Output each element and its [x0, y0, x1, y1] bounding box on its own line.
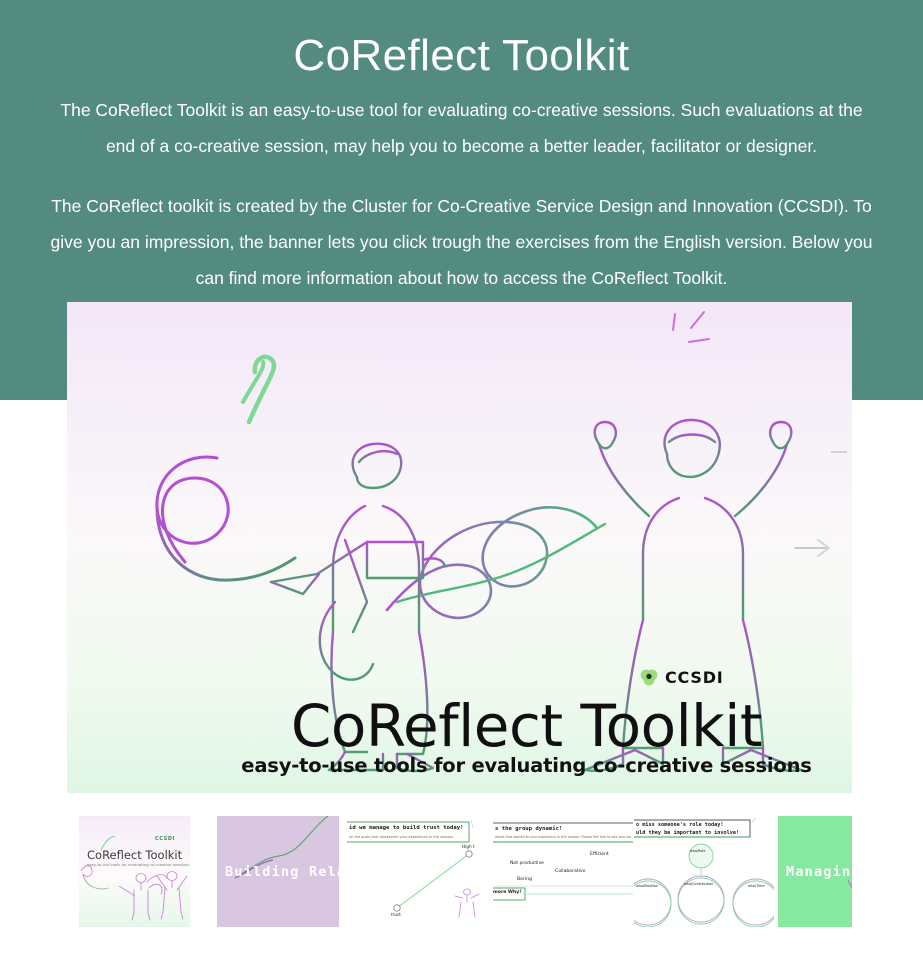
thumbnail-carousel[interactable]: CoReflect Toolkit easy-to-use tools for …: [79, 816, 852, 927]
thumbnail-scale-subheading: on the scale that represents your experi…: [349, 835, 453, 839]
thumbnail-roles-heading-2: uld they be important to involve!: [636, 830, 739, 836]
thumbnail-scale-graphics: [347, 816, 491, 927]
thumbnail-dynamic-subheading: words that applied to your experience in…: [495, 835, 631, 839]
thumbnail-gap: [190, 816, 217, 927]
thumbnail-roles-heading-1: o miss someone's role today!: [636, 822, 723, 828]
thumbnail-dynamic-heading: s the group dynamic!: [495, 826, 562, 832]
thumbnail-roles-bubble-3: who/Relation: [636, 884, 658, 888]
thumbnail-dynamic-word-4: Boring: [517, 877, 532, 882]
thumbnail-roles-bubble-2: who/Contribution: [684, 882, 713, 886]
thumbnail-managing-time[interactable]: Managing Ti: [778, 816, 852, 927]
thumbnail-group-dynamic[interactable]: s the group dynamic! words that applied …: [493, 816, 633, 927]
thumbnail-cover-title: CoReflect Toolkit: [87, 848, 182, 862]
ccsdi-venn-icon: [639, 667, 659, 687]
ccsdi-wordmark: CCSDI: [665, 668, 724, 687]
banner-title: CoReflect Toolkit: [134, 692, 852, 760]
thumbnail-scale-high-label: High t: [462, 844, 475, 849]
thumbnail-time-label: Managing Ti: [778, 816, 852, 927]
thumbnail-building-relations[interactable]: Building Relations: [217, 816, 339, 927]
thumbnail-dynamic-footer: more Why!: [493, 890, 521, 895]
thumbnail-gap: [339, 816, 347, 927]
banner-slideshow[interactable]: CCSDI CoReflect Toolkit easy-to-use tool…: [67, 302, 852, 793]
thumbnail-dynamic-word-3: Collaborative: [555, 869, 585, 874]
thumbnail-roles-bubble-4: who/Time: [748, 884, 764, 888]
next-arrow-icon[interactable]: [793, 536, 833, 560]
thumbnail-cover-illustration: [79, 816, 190, 927]
thumbnail-cover-logo: CCSDI: [155, 836, 175, 842]
thumbnail-roles[interactable]: o miss someone's role today! uld they be…: [634, 816, 774, 927]
intro-paragraph-1: The CoReflect Toolkit is an easy-to-use …: [50, 92, 873, 164]
thumbnail-cover-subtitle: easy-to-use tools for evaluating co-crea…: [87, 862, 189, 867]
thumbnail-relations-label: Building Relations: [217, 816, 339, 927]
thumbnail-dynamic-word-2: Not productive: [510, 861, 544, 866]
page-title: CoReflect Toolkit: [0, 28, 923, 84]
thumbnail-trust-scale[interactable]: id we manage to build trust today! on th…: [347, 816, 491, 927]
banner-ccsdi-logo: CCSDI: [639, 667, 724, 687]
intro-paragraph-2: The CoReflect toolkit is created by the …: [50, 188, 873, 296]
thumbnail-roles-bubble-1: who/Role: [690, 849, 705, 853]
thumbnail-dynamic-word-1: Efficient: [590, 852, 609, 857]
banner-subtitle: easy-to-use tools for evaluating co-crea…: [134, 754, 852, 777]
thumbnail-scale-low-label: trust: [391, 912, 401, 917]
thumbnail-cover[interactable]: CoReflect Toolkit easy-to-use tools for …: [79, 816, 190, 927]
thumbnail-scale-heading: id we manage to build trust today!: [349, 825, 464, 831]
